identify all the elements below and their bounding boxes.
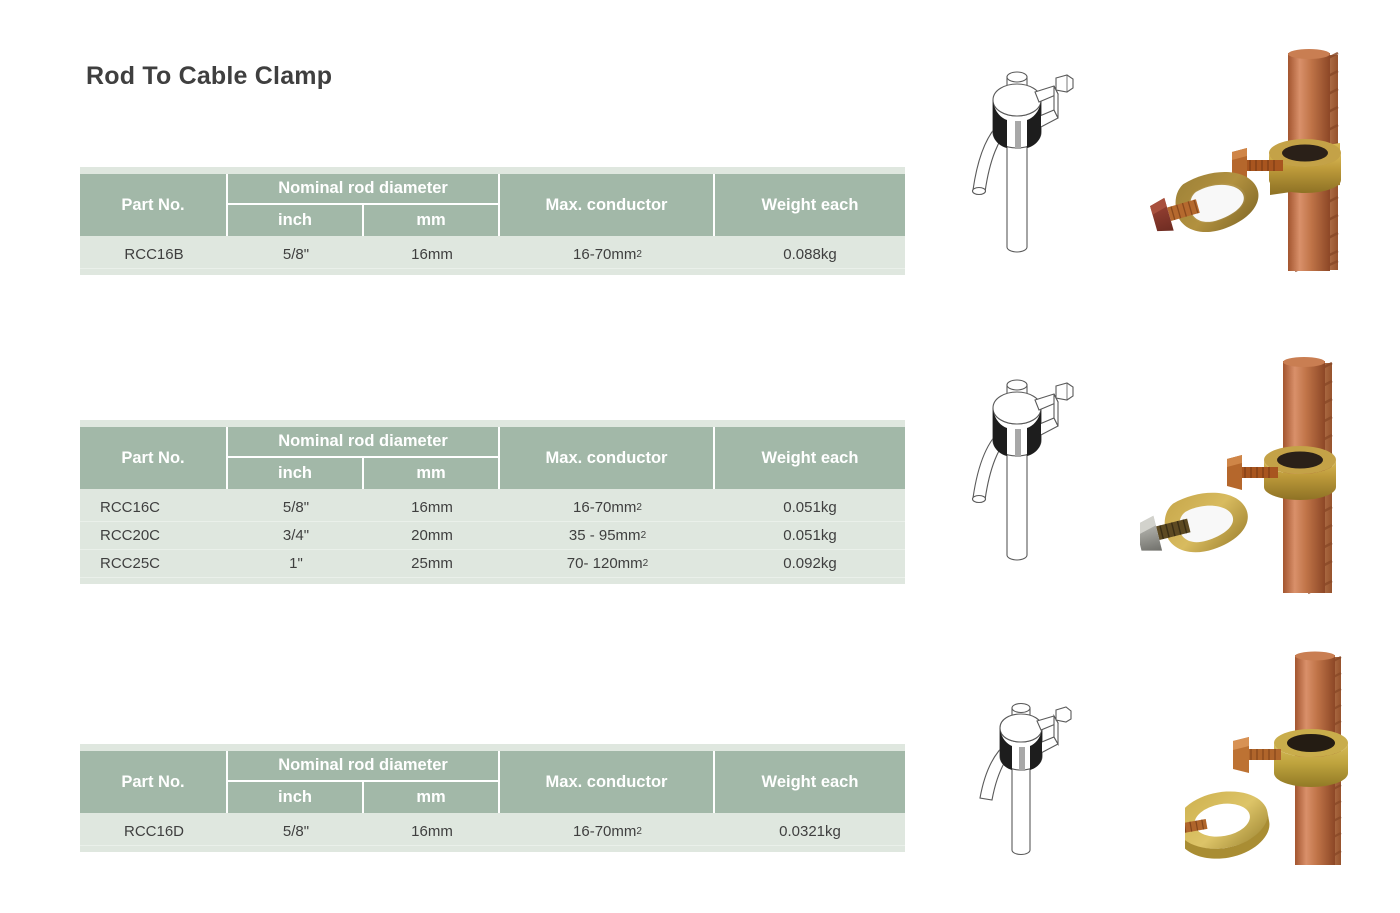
column-header-weight-each: Weight each [715,751,905,813]
column-header-part-no: Part No. [80,751,228,813]
table-body: RCC16B 5/8" 16mm 16-70mm2 0.088kg [80,236,905,275]
cell-max-conductor: 70- 120mm2 [500,550,715,577]
column-header-max-conductor: Max. conductor [500,174,715,236]
table-header-row: Part No. Nominal rod diameter inch mm Ma… [80,427,905,489]
table-body: RCC16D 5/8" 16mm 16-70mm2 0.0321kg [80,813,905,852]
cell-mm: 16mm [364,818,500,845]
table-row: RCC25C 1" 25mm 70- 120mm2 0.092kg [80,550,905,578]
column-header-nominal-rod-diameter: Nominal rod diameter inch mm [228,174,500,236]
cell-max-conductor-sup: 2 [636,826,642,837]
column-header-part-no: Part No. [80,427,228,489]
table-row: RCC16C 5/8" 16mm 16-70mm2 0.051kg [80,494,905,522]
table-header-row: Part No. Nominal rod diameter inch mm Ma… [80,751,905,813]
cell-inch: 5/8" [228,494,364,521]
cell-mm: 20mm [364,522,500,549]
table-header-row: Part No. Nominal rod diameter inch mm Ma… [80,174,905,236]
column-header-mm: mm [364,205,498,236]
cell-max-conductor-sup: 2 [636,502,642,513]
column-header-nominal-title: Nominal rod diameter [228,427,498,458]
cell-weight: 0.092kg [715,550,905,577]
column-header-inch: inch [228,782,364,813]
product-photo-3 [1185,645,1400,870]
page-root: Rod To Cable Clamp Part No. Nominal rod … [0,0,1400,913]
column-header-mm: mm [364,782,498,813]
column-header-nominal-title: Nominal rod diameter [228,751,498,782]
cell-weight: 0.051kg [715,522,905,549]
column-header-part-no: Part No. [80,174,228,236]
spec-table-2: Part No. Nominal rod diameter inch mm Ma… [80,420,905,584]
table-top-strip [80,744,905,751]
table-body: RCC16C 5/8" 16mm 16-70mm2 0.051kg RCC20C… [80,489,905,584]
product-photo-2 [1140,355,1395,610]
cell-part-no: RCC25C [80,550,228,577]
cell-max-conductor: 16-70mm2 [500,818,715,845]
cell-inch: 3/4" [228,522,364,549]
column-header-inch: inch [228,205,364,236]
page-title: Rod To Cable Clamp [86,62,332,91]
column-header-nominal-rod-diameter: Nominal rod diameter inch mm [228,751,500,813]
cell-max-conductor: 35 - 95mm2 [500,522,715,549]
table-row: RCC16B 5/8" 16mm 16-70mm2 0.088kg [80,241,905,269]
column-header-nominal-title: Nominal rod diameter [228,174,498,205]
spec-table-1: Part No. Nominal rod diameter inch mm Ma… [80,167,905,275]
spec-table-3: Part No. Nominal rod diameter inch mm Ma… [80,744,905,852]
cell-max-conductor-sup: 2 [643,558,649,569]
cell-max-conductor-value: 35 - 95mm [569,527,641,544]
column-header-max-conductor: Max. conductor [500,427,715,489]
cell-max-conductor-sup: 2 [641,530,647,541]
cell-max-conductor-value: 16-70mm [573,246,636,263]
column-header-nominal-rod-diameter: Nominal rod diameter inch mm [228,427,500,489]
table-top-strip [80,420,905,427]
cell-weight: 0.0321kg [715,818,905,845]
column-header-inch: inch [228,458,364,489]
cell-part-no: RCC16C [80,494,228,521]
cell-max-conductor: 16-70mm2 [500,241,715,268]
cell-mm: 16mm [364,494,500,521]
cell-max-conductor-sup: 2 [636,249,642,260]
product-photo-1 [1140,35,1395,290]
cell-part-no: RCC16B [80,241,228,268]
cell-part-no: RCC20C [80,522,228,549]
line-drawing-rod-clamp-1 [955,42,1095,277]
line-drawing-rod-clamp-3 [960,680,1090,860]
column-header-max-conductor: Max. conductor [500,751,715,813]
column-header-mm: mm [364,458,498,489]
column-header-weight-each: Weight each [715,427,905,489]
cell-max-conductor-value: 16-70mm [573,499,636,516]
table-row: RCC16D 5/8" 16mm 16-70mm2 0.0321kg [80,818,905,846]
cell-inch: 1" [228,550,364,577]
cell-weight: 0.051kg [715,494,905,521]
cell-inch: 5/8" [228,818,364,845]
column-header-weight-each: Weight each [715,174,905,236]
table-row: RCC20C 3/4" 20mm 35 - 95mm2 0.051kg [80,522,905,550]
cell-inch: 5/8" [228,241,364,268]
line-drawing-rod-clamp-2 [955,350,1095,585]
cell-max-conductor: 16-70mm2 [500,494,715,521]
cell-max-conductor-value: 16-70mm [573,823,636,840]
cell-max-conductor-value: 70- 120mm [567,555,643,572]
cell-mm: 25mm [364,550,500,577]
cell-part-no: RCC16D [80,818,228,845]
cell-mm: 16mm [364,241,500,268]
table-top-strip [80,167,905,174]
cell-weight: 0.088kg [715,241,905,268]
